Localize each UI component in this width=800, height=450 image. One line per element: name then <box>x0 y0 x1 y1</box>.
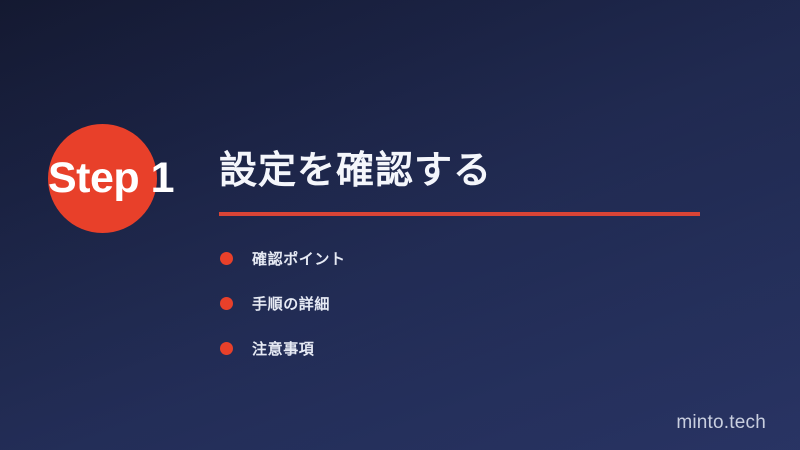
slide-headline: 設定を確認する <box>219 145 492 197</box>
bullet-dot-icon <box>220 342 233 355</box>
bullet-list: 確認ポイント 手順の詳細 注意事項 <box>219 236 346 371</box>
bullet-dot-icon <box>220 297 233 310</box>
bullet-item-label: 手順の詳細 <box>252 293 330 314</box>
list-item: 手順の詳細 <box>219 281 346 326</box>
footer-brand-text: minto.tech <box>676 412 766 434</box>
bullet-item-label: 注意事項 <box>252 338 314 359</box>
bullet-item-label: 確認ポイント <box>252 248 346 269</box>
slide-content: Step 1 設定を確認する 確認ポイント 手順の詳細 注意事項 minto.t… <box>0 0 800 450</box>
bullet-dot-icon <box>220 252 233 265</box>
slide-canvas: Step 1 設定を確認する 確認ポイント 手順の詳細 注意事項 minto.t… <box>0 0 800 450</box>
headline-divider <box>219 212 700 216</box>
list-item: 注意事項 <box>219 326 346 371</box>
list-item: 確認ポイント <box>219 236 346 281</box>
